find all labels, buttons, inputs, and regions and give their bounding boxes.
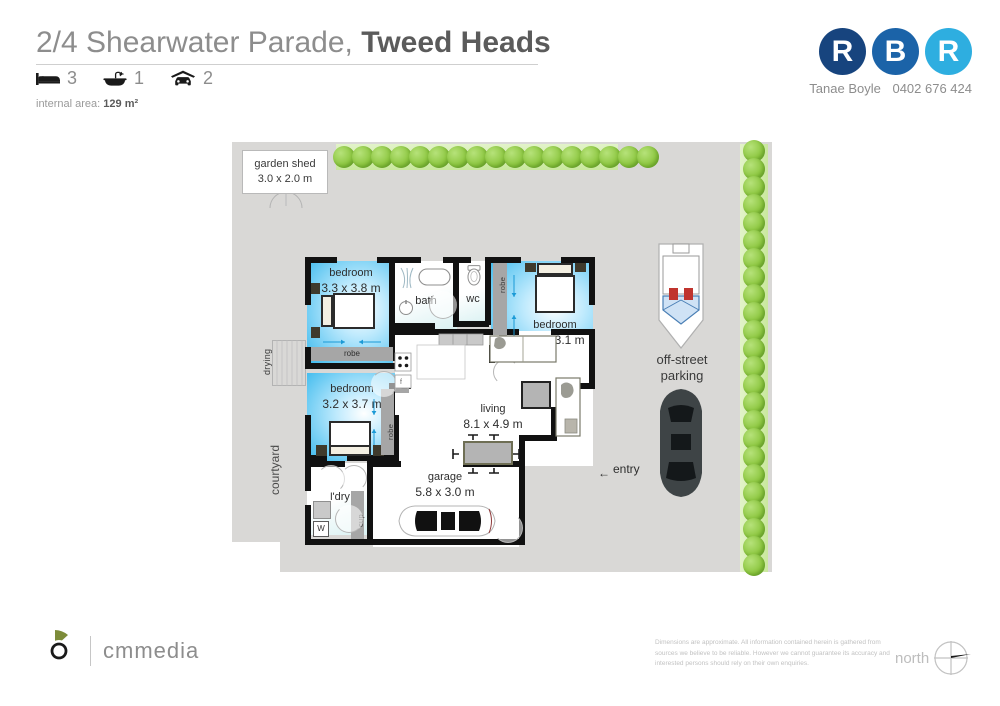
carspaces-count: 2 [203,68,213,89]
off-street-parking-line2: parking [632,368,732,384]
page-header: 2/4 Shearwater Parade, Tweed Heads 3 [0,0,1000,130]
internal-area-value: 129 m² [103,98,138,110]
feature-bathrooms: 1 [103,68,144,89]
robe-arrows-icon-3 [369,395,379,451]
bed-pillow [537,263,573,275]
bed-pillow [329,445,371,456]
bedroom-1-name: bedroom [309,267,393,281]
shrub [637,146,659,168]
address-suburb: Tweed Heads [361,26,551,59]
off-street-parking-label: off-street parking [632,352,732,385]
agent-contact: Tanae Boyle 0402 676 424 [792,81,972,96]
agent-phone: 0402 676 424 [892,81,972,96]
disclaimer-text: Dimensions are approximate. All informat… [655,638,895,670]
logo-circles: R B R [792,28,972,75]
bath-door-arc [429,291,457,319]
bedrooms-count: 3 [67,68,77,89]
logo-circle-b: B [872,28,919,75]
compass-icon [931,638,971,678]
toilet-icon [463,265,485,289]
agency-logo: R B R Tanae Boyle 0402 676 424 [792,28,972,96]
cmmedia-logo: cmmedia [32,628,199,674]
car-icon [170,70,196,87]
internal-area: internal area: 129 m² [36,98,138,110]
north-indicator: north [895,638,971,678]
internal-area-label: internal area: [36,98,100,110]
armchair-icon [555,377,581,437]
laundry-tub [313,501,331,519]
robe-label-1: robe [315,349,389,359]
svg-text:f: f [400,379,402,386]
kitchen-fixtures-icon: f [393,333,501,389]
bed [535,275,575,313]
garden-shed-name: garden shed [254,157,315,172]
house-footprint: robe bedroom 3.3 x 3.8 m linen bath wc [303,255,599,560]
robe-arrows-icon-1 [317,337,387,347]
parked-car-icon [657,388,705,498]
agent-name: Tanae Boyle [809,81,881,96]
address-street: 2/4 Shearwater Parade, [36,26,353,59]
feature-bedrooms: 3 [36,68,77,89]
bath-icon [103,71,127,87]
logo-circle-r1: R [819,28,866,75]
living-name: living [455,403,531,417]
boat-icon [655,242,707,350]
drying-rack-icon [272,340,306,386]
logo-circle-r2: R [925,28,972,75]
hedge-top [336,144,618,170]
cmmedia-wordmark: cmmedia [103,638,199,664]
bathrooms-count: 1 [134,68,144,89]
garage-name: garage [403,471,487,485]
off-street-parking-line1: off-street [632,352,732,368]
robe-label-3: robe [386,424,395,440]
shrub [743,554,765,576]
north-label: north [895,650,929,667]
site-notch [232,542,280,572]
nightstand [525,263,536,272]
site-label-drying: drying [262,349,272,375]
bed-pillow [321,295,333,327]
bedroom-1-dims: 3.3 x 3.8 m [307,281,395,296]
living-dims: 8.1 x 4.9 m [447,417,539,432]
nightstand [575,263,586,272]
cmmedia-divider [90,636,91,666]
bedroom-2-name: bedroom [513,319,597,333]
garage-car-icon [393,503,501,539]
hedge-right [740,144,768,572]
garden-shed-doors-icon [266,192,306,208]
garden-shed-dims: 3.0 x 2.0 m [258,172,312,187]
garden-shed-callout: garden shed 3.0 x 2.0 m [242,150,328,194]
entry-label: entry [613,462,640,476]
bed [333,293,375,329]
wc-label: wc [457,293,489,307]
title-block: 2/4 Shearwater Parade, Tweed Heads [36,26,556,65]
robe-bedroom-3 [381,389,394,455]
nightstand [316,445,327,456]
laundry-door-arc-2 [341,465,367,491]
bed-icon [36,72,60,86]
washer-label: W [313,524,329,534]
floorplan: garden shed 3.0 x 2.0 m courtyard drying [0,130,1000,600]
sofa-icon [489,333,559,367]
site-label-courtyard: courtyard [268,445,282,495]
feature-carspaces: 2 [170,68,213,89]
garage-dims: 5.8 x 3.0 m [399,485,491,500]
laundry-door-arc-3 [335,505,363,533]
robe-label-2: robe [498,277,507,293]
cmmedia-mark-icon [32,628,78,674]
property-features: 3 1 2 [36,68,213,89]
title-divider [36,64,538,65]
page-title: 2/4 Shearwater Parade, Tweed Heads [36,26,556,60]
entry-arrow-icon: ← [598,466,610,480]
